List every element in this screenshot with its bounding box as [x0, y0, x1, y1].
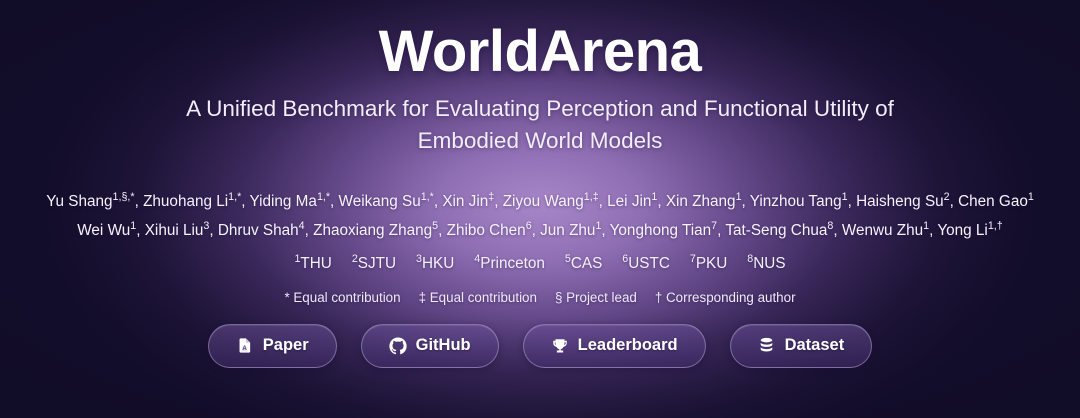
trophy-icon [551, 337, 569, 355]
affiliation-name: HKU [422, 255, 454, 272]
author-separator: , [135, 193, 144, 210]
github-icon [389, 337, 407, 355]
author-name: Weikang Su1,* [339, 193, 434, 210]
hero-banner: WorldArena A Unified Benchmark for Evalu… [0, 0, 1080, 418]
svg-text:A: A [242, 345, 247, 352]
affiliation-name: THU [300, 255, 331, 272]
affiliation-item: 7PKU [690, 255, 727, 272]
author-name: Yonghong Tian7 [610, 222, 717, 239]
author-separator: , [532, 222, 541, 239]
author-affiliation-marker: 1,* [317, 191, 330, 203]
author-separator: , [848, 193, 857, 210]
author-affiliation-marker: 1,† [988, 220, 1003, 232]
author-name-text: Lei Jin [607, 193, 651, 210]
affiliation-name: Princeton [480, 255, 545, 272]
author-name: Wenwu Zhu1 [842, 222, 929, 239]
database-icon [758, 337, 776, 355]
author-name: Tat-Seng Chua8 [725, 222, 833, 239]
author-separator: , [657, 193, 666, 210]
footnote-item: † Corresponding author [655, 290, 796, 305]
author-name: Xihui Liu3 [145, 222, 210, 239]
author-line-1: Yu Shang1,§,*, Zhuohang Li1,*, Yiding Ma… [25, 187, 1055, 216]
author-name-text: Weikang Su [339, 193, 421, 210]
author-name-text: Yu Shang [46, 193, 112, 210]
author-name-text: Xin Jin [442, 193, 488, 210]
affiliation-name: USTC [628, 255, 670, 272]
author-name: Lei Jin1 [607, 193, 657, 210]
author-separator: , [950, 193, 959, 210]
author-name-text: Ziyou Wang [503, 193, 584, 210]
author-line-2: Wei Wu1, Xihui Liu3, Dhruv Shah4, Zhaoxi… [25, 216, 1055, 245]
author-affiliation-marker: 1,‡ [584, 191, 599, 203]
author-separator: , [833, 222, 842, 239]
author-name-text: Jun Zhu [540, 222, 595, 239]
footnote-item: § Project lead [555, 290, 637, 305]
button-label: Paper [263, 336, 309, 355]
author-affiliation-marker: 1,* [421, 191, 434, 203]
author-name: Yiding Ma1,* [249, 193, 330, 210]
author-separator: , [136, 222, 145, 239]
author-separator: , [209, 222, 218, 239]
author-name: Ziyou Wang1,‡ [503, 193, 599, 210]
author-name: Xin Zhang1 [666, 193, 742, 210]
affiliation-item: 2SJTU [352, 255, 396, 272]
author-affiliation-marker: 1 [1028, 191, 1034, 203]
author-separator: , [330, 193, 339, 210]
author-name-text: Dhruv Shah [218, 222, 299, 239]
author-separator: , [305, 222, 314, 239]
affiliation-name: CAS [571, 255, 602, 272]
affiliation-list: 1THU2SJTU3HKU4Princeton5CAS6USTC7PKU8NUS [0, 255, 1080, 273]
author-name: Yinzhou Tang1 [750, 193, 848, 210]
author-name-text: Wenwu Zhu [842, 222, 923, 239]
author-name-text: Yinzhou Tang [750, 193, 842, 210]
button-label: Leaderboard [578, 336, 678, 355]
action-button-row: APaperGitHubLeaderboardDataset [0, 324, 1080, 368]
affiliation-item: 6USTC [622, 255, 670, 272]
affiliation-name: NUS [753, 255, 785, 272]
author-name-text: Tat-Seng Chua [725, 222, 827, 239]
footnote-item: * Equal contribution [284, 290, 400, 305]
button-label: GitHub [416, 336, 471, 355]
author-name: Zhuohang Li1,* [143, 193, 241, 210]
affiliation-name: SJTU [358, 255, 396, 272]
affiliation-name: PKU [696, 255, 727, 272]
author-name: Zhaoxiang Zhang5 [313, 222, 438, 239]
author-separator: , [601, 222, 609, 239]
affiliation-item: 5CAS [565, 255, 602, 272]
author-name: Wei Wu1 [77, 222, 136, 239]
author-name-text: Zhibo Chen [447, 222, 526, 239]
author-name-text: Chen Gao [958, 193, 1028, 210]
author-name-text: Zhuohang Li [143, 193, 228, 210]
author-name-text: Yonghong Tian [610, 222, 712, 239]
author-separator: , [438, 222, 447, 239]
footnote-item: ‡ Equal contribution [419, 290, 537, 305]
author-name-text: Yiding Ma [249, 193, 316, 210]
author-list: Yu Shang1,§,*, Zhuohang Li1,*, Yiding Ma… [25, 187, 1055, 246]
author-name-text: Xihui Liu [145, 222, 204, 239]
author-name-text: Xin Zhang [666, 193, 736, 210]
page-subtitle: A Unified Benchmark for Evaluating Perce… [145, 93, 935, 157]
author-name: Yong Li1,† [937, 222, 1002, 239]
author-name: Chen Gao1 [958, 193, 1034, 210]
github-button[interactable]: GitHub [361, 324, 499, 368]
affiliation-item: 4Princeton [474, 255, 545, 272]
author-name: Haisheng Su2 [856, 193, 950, 210]
affiliation-item: 1THU [294, 255, 331, 272]
author-affiliation-marker: 1,* [228, 191, 241, 203]
author-name-text: Wei Wu [77, 222, 130, 239]
pdf-file-icon: A [236, 337, 254, 355]
affiliation-item: 3HKU [416, 255, 454, 272]
leaderboard-button[interactable]: Leaderboard [523, 324, 706, 368]
author-name: Zhibo Chen6 [447, 222, 532, 239]
author-name: Xin Jin‡ [442, 193, 494, 210]
author-name-text: Yong Li [937, 222, 987, 239]
footnote-list: * Equal contribution‡ Equal contribution… [0, 290, 1080, 305]
author-separator: , [742, 193, 750, 210]
affiliation-item: 8NUS [747, 255, 785, 272]
author-name-text: Zhaoxiang Zhang [313, 222, 432, 239]
author-name: Jun Zhu1 [540, 222, 601, 239]
author-name: Yu Shang1,§,* [46, 193, 134, 210]
dataset-button[interactable]: Dataset [730, 324, 873, 368]
paper-button[interactable]: APaper [208, 324, 337, 368]
page-title: WorldArena [0, 0, 1080, 85]
author-name: Dhruv Shah4 [218, 222, 305, 239]
author-separator: , [599, 193, 608, 210]
author-separator: , [494, 193, 503, 210]
button-label: Dataset [785, 336, 845, 355]
author-affiliation-marker: 1,§,* [113, 191, 135, 203]
author-name-text: Haisheng Su [856, 193, 944, 210]
